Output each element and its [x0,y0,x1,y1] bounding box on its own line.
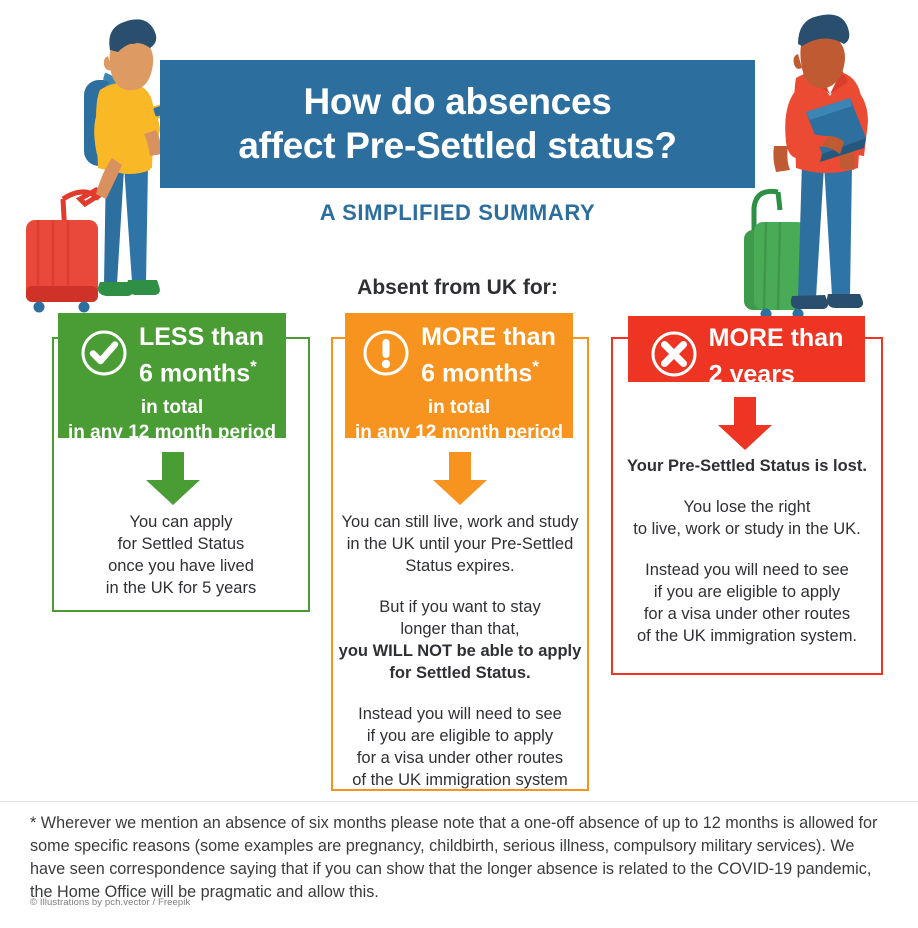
column-body-orange: You can still live, work and studyin the… [330,511,590,791]
down-arrow-icon-green [144,452,202,511]
column-header-green: LESS than 6 months* in total in any 12 m… [58,313,286,438]
traveller-man-illustration [740,14,918,319]
column-subheading-green: in total in any 12 month period [68,395,276,445]
column-header-red: MORE than 2 years [628,316,865,382]
body-paragraph: you WILL NOT be able to applyfor Settled… [330,640,590,684]
column-heading-orange: MORE than 6 months* [421,323,556,388]
down-arrow-icon-orange [431,452,489,511]
column-heading-red: MORE than 2 years [709,324,844,389]
column-body-red: Your Pre-Settled Status is lost.You lose… [613,455,881,647]
illustration-credit: © Illustrations by pch.vector / Freepik [30,897,190,908]
footnote-text: * Wherever we mention an absence of six … [30,812,890,904]
column-header-orange: MORE than 6 months* in total in any 12 m… [345,313,573,438]
page-title-line-1: How do absences [303,80,611,124]
section-label: Absent from UK for: [160,276,755,300]
body-paragraph: But if you want to staylonger than that, [330,596,590,640]
page-subtitle: A SIMPLIFIED SUMMARY [160,200,755,226]
body-paragraph: You can still live, work and studyin the… [330,511,590,577]
body-paragraph: Instead you will need to seeif you are e… [330,703,590,791]
footnote-divider [0,801,918,802]
exclamation-circle-icon [362,329,410,382]
body-paragraph: You lose the rightto live, work or study… [613,496,881,540]
body-paragraph: You can applyfor Settled Statusonce you … [56,511,306,599]
body-paragraph: Your Pre-Settled Status is lost. [613,455,881,477]
check-circle-icon [80,329,128,382]
down-arrow-icon-red [716,397,774,456]
column-heading-green: LESS than 6 months* [139,323,264,388]
page-title-line-2: affect Pre-Settled status? [238,124,676,168]
page-title-bar: How do absences affect Pre-Settled statu… [160,60,755,188]
cross-circle-icon [650,330,698,383]
column-subheading-orange: in total in any 12 month period [355,395,563,445]
body-paragraph: Instead you will need to seeif you are e… [613,559,881,647]
infographic-canvas: How do absences affect Pre-Settled statu… [0,0,918,928]
column-body-green: You can applyfor Settled Statusonce you … [56,511,306,599]
